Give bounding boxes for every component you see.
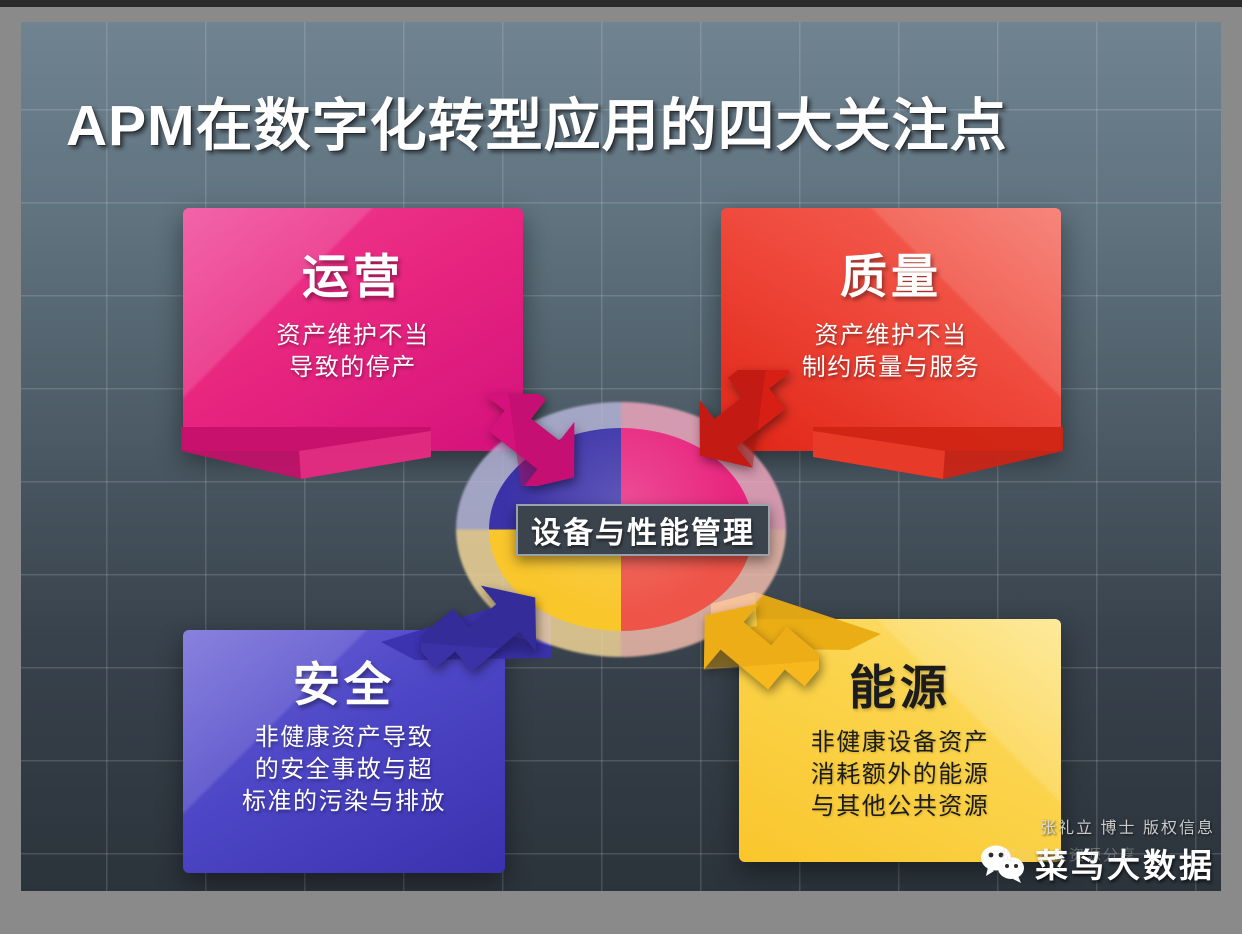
arrow-quality-to-center bbox=[683, 370, 813, 470]
card-safety-line-3: 标准的污染与排放 bbox=[183, 786, 505, 818]
arrow-operations-to-center bbox=[461, 394, 591, 486]
card-operations-heading: 运营 bbox=[183, 238, 523, 307]
arrow-safety-to-center bbox=[421, 582, 561, 682]
card-safety-line-1: 非健康资产导致 bbox=[183, 722, 505, 754]
card-quality-line-1: 资产维护不当 bbox=[721, 320, 1061, 352]
card-energy-line-2: 消耗额外的能源 bbox=[739, 759, 1061, 791]
top-dark-strip bbox=[0, 0, 1242, 7]
watermark-copyright: 张礼立 博士 版权信息 bbox=[979, 814, 1215, 838]
card-operations-line-2: 导致的停产 bbox=[183, 352, 523, 384]
card-operations-text: 资产维护不当 导致的停产 bbox=[183, 320, 523, 384]
page-title: APM在数字化转型应用的四大关注点 bbox=[66, 80, 1008, 162]
card-quality-fold bbox=[813, 427, 1063, 483]
slide-canvas: APM在数字化转型应用的四大关注点 运营 资产维护不当 导致的停产 bbox=[21, 22, 1221, 891]
center-label-plate: 设备与性能管理 bbox=[516, 504, 770, 556]
screenshot-frame: APM在数字化转型应用的四大关注点 运营 资产维护不当 导致的停产 bbox=[0, 0, 1242, 934]
card-quality-heading: 质量 bbox=[721, 238, 1061, 307]
card-safety-line-2: 的安全事故与超 bbox=[183, 754, 505, 786]
center-label-text: 设备与性能管理 bbox=[531, 508, 755, 552]
card-safety-text: 非健康资产导致 的安全事故与超 标准的污染与排放 bbox=[183, 722, 505, 818]
arrow-energy-to-center bbox=[679, 600, 819, 700]
card-operations-fold bbox=[181, 427, 431, 483]
card-energy-text: 非健康设备资产 消耗额外的能源 与其他公共资源 bbox=[739, 727, 1061, 823]
watermark: 张礼立 博士 版权信息 菜鸟大数据 提供公众资源分享 bbox=[979, 814, 1215, 887]
card-operations-line-1: 资产维护不当 bbox=[183, 320, 523, 352]
watermark-ghost-text: 提供公众资源分享 bbox=[1001, 844, 1137, 865]
card-energy-line-1: 非健康设备资产 bbox=[739, 727, 1061, 759]
